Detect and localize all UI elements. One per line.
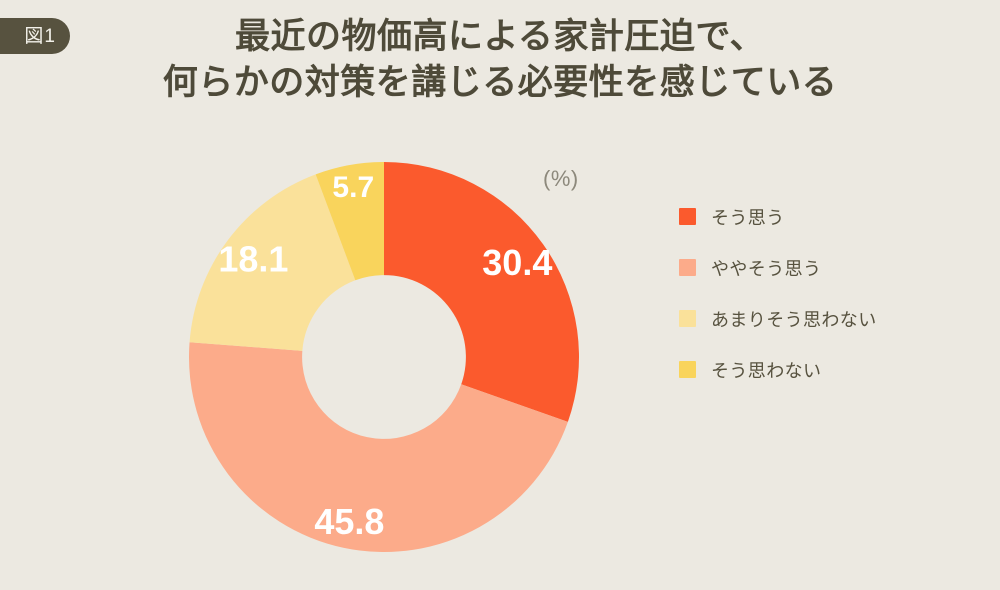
donut-slice[interactable] [384,162,579,422]
page-title: 最近の物価高による家計圧迫で、 何らかの対策を講じる必要性を感じている [0,14,1000,106]
legend-item[interactable]: ややそう思う [679,255,979,280]
legend-item[interactable]: そう思わない [679,357,979,382]
legend-item-label: そう思う [711,204,785,230]
legend-item[interactable]: あまりそう思わない [679,306,979,331]
legend: そう思うややそう思うあまりそう思わないそう思わない [679,204,979,408]
percent-unit-label: (%) [543,166,579,192]
legend-item-label: そう思わない [711,357,821,383]
legend-swatch-icon [679,361,696,378]
legend-swatch-icon [679,208,696,225]
donut-slice-value: 30.4 [482,242,552,283]
donut-slice-value: 45.8 [314,501,384,542]
header: 図1 最近の物価高による家計圧迫で、 何らかの対策を講じる必要性を感じている [0,0,1000,130]
legend-swatch-icon [679,259,696,276]
legend-swatch-icon [679,310,696,327]
page-title-line-1: 最近の物価高による家計圧迫で、 [0,14,1000,60]
legend-item-label: ややそう思う [711,255,821,281]
donut-chart: 30.445.818.15.7 [189,162,579,552]
donut-slice-value: 18.1 [218,238,288,279]
donut-chart-svg: 30.445.818.15.7 [189,162,579,552]
donut-slice-value: 5.7 [332,171,374,204]
page-title-line-2: 何らかの対策を講じる必要性を感じている [0,60,1000,106]
legend-item-label: あまりそう思わない [711,306,877,332]
legend-item[interactable]: そう思う [679,204,979,229]
chart-area: 30.445.818.15.7 (%) そう思うややそう思うあまりそう思わないそ… [0,130,1000,590]
donut-slices [189,162,579,552]
